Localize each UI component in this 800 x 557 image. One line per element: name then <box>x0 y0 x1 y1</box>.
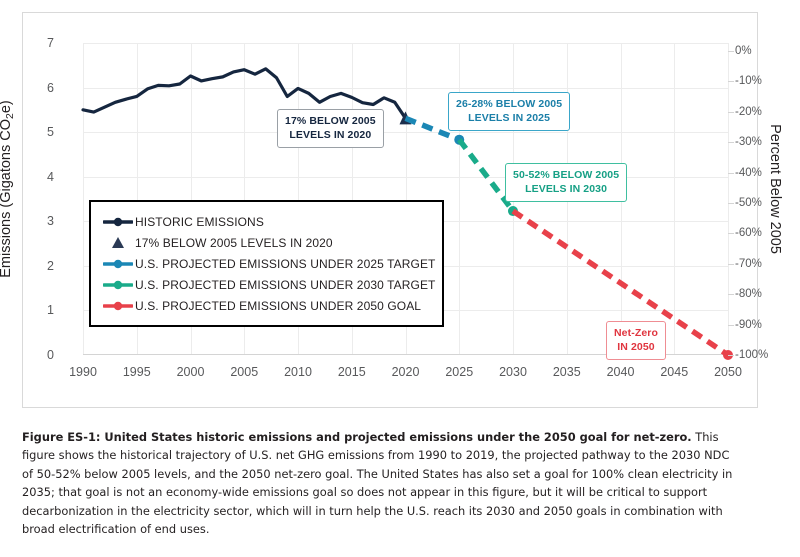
x-tick-label: 2050 <box>714 365 742 379</box>
x-tick-label: 2010 <box>284 365 312 379</box>
legend-line-dot-icon <box>101 279 135 291</box>
y-tick-mark-right <box>728 294 734 295</box>
figure-es-1: Emissions (Gigatons CO2e) Percent Below … <box>0 0 800 557</box>
y-tick-label-right: -60% <box>735 227 789 239</box>
y-tick-label-right: -90% <box>735 319 789 331</box>
y-tick-mark-right <box>728 325 734 326</box>
x-tick-label: 1990 <box>69 365 97 379</box>
y-tick-label: 1 <box>14 303 54 317</box>
callout-2030-line1: 50-52% BELOW 2005 <box>513 168 619 182</box>
legend-line-dot-icon <box>101 258 135 270</box>
x-tick-label: 2035 <box>553 365 581 379</box>
legend-line-dot-icon <box>101 216 135 228</box>
caption-bold: Figure ES-1: United States historic emis… <box>22 430 692 444</box>
callout-2050: Net-Zero IN 2050 <box>606 321 666 360</box>
y-tick-label: 4 <box>14 170 54 184</box>
callout-2025-line1: 26-28% BELOW 2005 <box>456 97 562 111</box>
y-tick-label-right: -10% <box>735 75 789 87</box>
legend-item-label: 17% BELOW 2005 LEVELS IN 2020 <box>135 236 333 250</box>
y-tick-label-right: -50% <box>735 197 789 209</box>
chart-legend: HISTORIC EMISSIONS17% BELOW 2005 LEVELS … <box>89 200 444 327</box>
x-tick-label: 2000 <box>177 365 205 379</box>
y-tick-label: 7 <box>14 36 54 50</box>
y-tick-mark-right <box>728 264 734 265</box>
y-tick-mark-right <box>728 51 734 52</box>
callout-2025: 26-28% BELOW 2005 LEVELS IN 2025 <box>448 92 570 131</box>
y-tick-label-right: -70% <box>735 258 789 270</box>
legend-triangle-icon <box>101 236 135 250</box>
y-tick-label: 5 <box>14 125 54 139</box>
legend-item-label: U.S. PROJECTED EMISSIONS UNDER 2030 TARG… <box>135 278 436 292</box>
x-tick-label: 2030 <box>499 365 527 379</box>
legend-item-label: HISTORIC EMISSIONS <box>135 215 264 229</box>
y-tick-mark-right <box>728 233 734 234</box>
legend-item-label: U.S. PROJECTED EMISSIONS UNDER 2025 TARG… <box>135 257 436 271</box>
figure-caption: Figure ES-1: United States historic emis… <box>22 428 734 539</box>
legend-item: U.S. PROJECTED EMISSIONS UNDER 2025 TARG… <box>101 253 430 274</box>
x-tick-label: 2015 <box>338 365 366 379</box>
callout-2050-line1: Net-Zero <box>614 326 658 340</box>
y-tick-label-right: -80% <box>735 288 789 300</box>
x-tick-label: 2025 <box>445 365 473 379</box>
y-tick-mark-right <box>728 173 734 174</box>
y-tick-label: 6 <box>14 81 54 95</box>
x-tick-label: 2040 <box>607 365 635 379</box>
legend-item: U.S. PROJECTED EMISSIONS UNDER 2050 GOAL <box>101 295 430 316</box>
gridline-x <box>728 43 729 355</box>
legend-item: U.S. PROJECTED EMISSIONS UNDER 2030 TARG… <box>101 274 430 295</box>
callout-2020: 17% BELOW 2005 LEVELS IN 2020 <box>277 109 384 148</box>
callout-2030-line2: LEVELS IN 2030 <box>513 182 619 196</box>
caption-body: This figure shows the historical traject… <box>22 430 732 536</box>
y-tick-label: 2 <box>14 259 54 273</box>
y-tick-mark-right <box>728 81 734 82</box>
y-tick-label: 3 <box>14 214 54 228</box>
x-tick-label: 2020 <box>392 365 420 379</box>
chart-frame: Emissions (Gigatons CO2e) Percent Below … <box>22 12 758 408</box>
callout-2020-line1: 17% BELOW 2005 <box>285 114 376 128</box>
callout-2030: 50-52% BELOW 2005 LEVELS IN 2030 <box>505 163 627 202</box>
x-tick-label: 1995 <box>123 365 151 379</box>
y-tick-label: 0 <box>14 348 54 362</box>
callout-2020-line2: LEVELS IN 2020 <box>285 128 376 142</box>
y-tick-label-right: -100% <box>735 349 789 361</box>
x-tick-label: 2045 <box>660 365 688 379</box>
y-tick-label-right: -40% <box>735 167 789 179</box>
legend-item-label: U.S. PROJECTED EMISSIONS UNDER 2050 GOAL <box>135 299 421 313</box>
callout-2025-line2: LEVELS IN 2025 <box>456 111 562 125</box>
legend-line-dot-icon <box>101 300 135 312</box>
y-tick-mark-right <box>728 355 734 356</box>
callout-2050-line2: IN 2050 <box>614 340 658 354</box>
y-tick-mark-right <box>728 112 734 113</box>
legend-item: HISTORIC EMISSIONS <box>101 211 430 232</box>
y-tick-label-right: -30% <box>735 136 789 148</box>
y-tick-label-right: 0% <box>735 45 789 57</box>
y-tick-mark-right <box>728 142 734 143</box>
x-tick-label: 2005 <box>230 365 258 379</box>
y-tick-label-right: -20% <box>735 106 789 118</box>
legend-item: 17% BELOW 2005 LEVELS IN 2020 <box>101 232 430 253</box>
y-tick-mark-right <box>728 203 734 204</box>
